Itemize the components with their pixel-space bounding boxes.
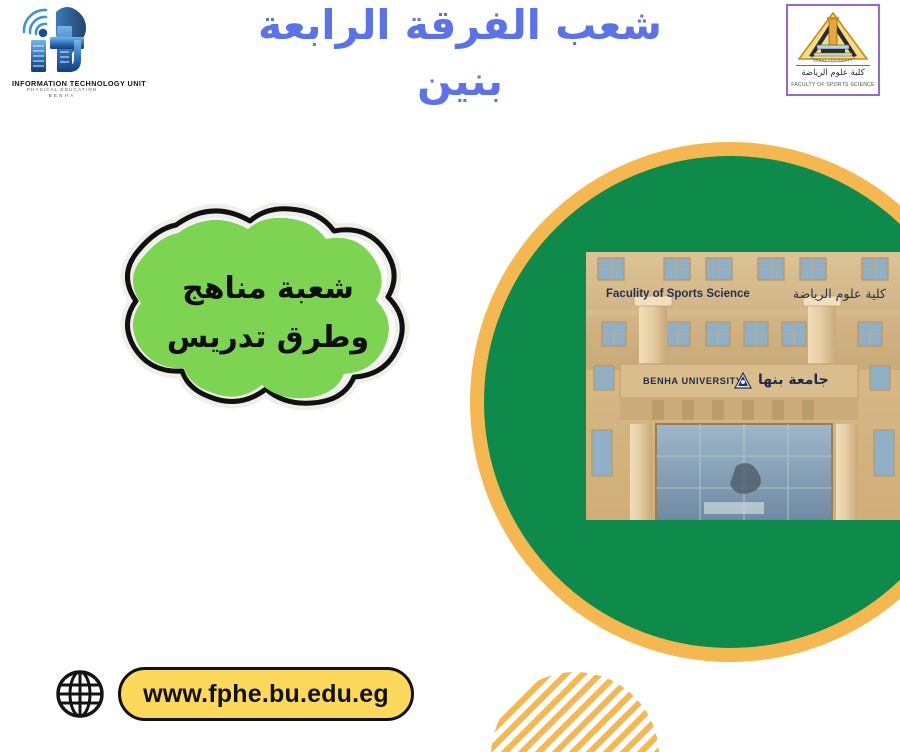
faculty-seal-english: FACULTY OF SPORTS SCIENCE [788,82,878,88]
website-url-text: www.fphe.bu.edu.eg [143,680,389,709]
division-name-line2: وطرق تدريس [58,314,478,363]
building-caption-english: Faculity of Sports Science [606,288,750,300]
it-unit-logo-line2: PHYSICAL EDUCATION [12,87,112,92]
svg-text:BENHA UNIVERSITY: BENHA UNIVERSITY [813,59,853,63]
slide-canvas: INFORMATION TECHNOLOGY UNIT PHYSICAL EDU… [0,0,900,752]
it-unit-logo-mark [12,2,112,80]
page-title: شعب الفرقة الرابعة بنين [250,0,670,110]
division-name-line1: شعبة مناهج [58,265,478,314]
faculty-seal-arabic: كلية علوم الرياضة [788,68,878,78]
building-university-arabic: جامعة بنها [758,372,829,388]
faculty-seal: BENHA UNIVERSITY كلية علوم الرياضة FACUL… [786,4,880,96]
building-university-english: BENHA UNIVERSITY [643,376,743,386]
globe-icon [54,668,106,720]
page-title-line2: بنين [250,54,670,110]
faculty-building-photo: Faculity of Sports Science كلية علوم الر… [586,252,900,520]
faculty-seal-divider [796,65,870,66]
benha-university-emblem-icon [734,372,752,390]
striped-circle-decoration [491,672,659,752]
division-cloud-callout: شعبة مناهج وطرق تدريس [58,203,478,468]
it-unit-logo: INFORMATION TECHNOLOGY UNIT PHYSICAL EDU… [12,2,112,102]
it-unit-logo-line3: BENHA [12,93,112,98]
faculty-seal-pyramid-icon: BENHA UNIVERSITY [797,11,869,63]
page-title-line1: شعب الفرقة الرابعة [250,0,670,54]
website-url-button[interactable]: www.fphe.bu.edu.eg [118,667,414,721]
building-caption-arabic: كلية علوم الرياضة [793,286,886,301]
division-name: شعبة مناهج وطرق تدريس [58,265,478,362]
